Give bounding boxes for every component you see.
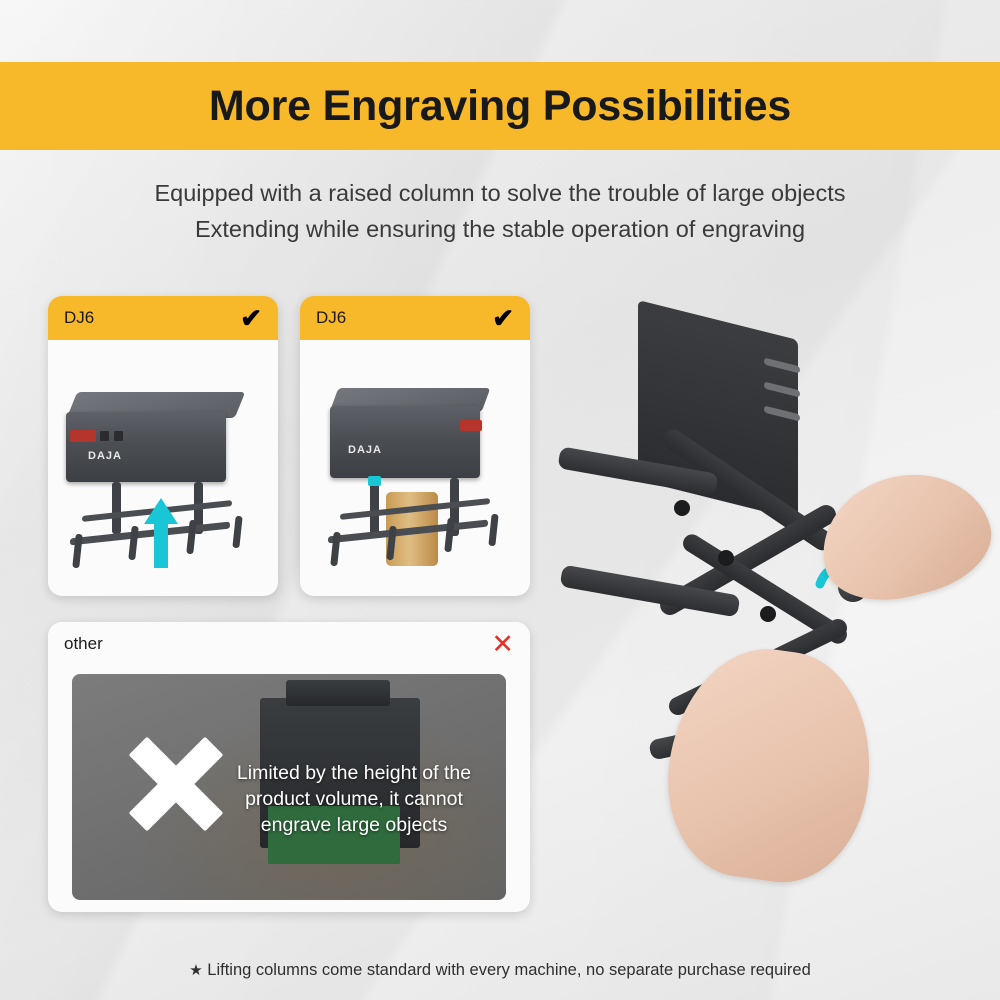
switch-icon-2 [114,431,123,441]
card-dj6-left-image: DAJA [48,340,278,596]
lift-column-left [370,478,379,536]
arm-hole-3 [760,606,776,622]
machine-body [330,406,480,478]
teal-marker [368,476,381,486]
footer-note: ★ Lifting columns come standard with eve… [0,961,1000,980]
page-title: More Engraving Possibilities [209,82,791,131]
power-indicator [460,420,482,431]
card-other: other ✕ Limited by the height of the pro… [48,622,530,912]
other-caption-line-2: product volume, it cannot [214,786,494,812]
card-dj6-left: DJ6 ✔ DAJA [48,296,278,596]
star-icon: ★ [189,962,202,979]
page-background: More Engraving Possibilities Equipped wi… [0,0,1000,1000]
hero-photo-stand-with-hands [520,250,1000,950]
arm-hole-2 [718,550,734,566]
card-other-header: other ✕ [48,622,530,666]
lift-column-left [112,482,121,534]
machine-body [66,412,226,482]
machine-illustration-left: DAJA [48,340,278,596]
subtitle-line-1: Equipped with a raised column to solve t… [0,175,1000,211]
other-caption-line-3: engrave large objects [214,812,494,838]
other-photo: Limited by the height of the product vol… [72,674,506,900]
card-dj6-left-label: DJ6 [64,308,94,328]
card-dj6-right-header: DJ6 ✔ [300,296,530,340]
brand-logo-right: DAJA [348,444,382,456]
cross-icon: ✕ [491,631,514,658]
switch-icon-1 [100,431,109,441]
card-other-image: Limited by the height of the product vol… [48,666,530,912]
card-dj6-right-label: DJ6 [316,308,346,328]
subtitle-line-2: Extending while ensuring the stable oper… [0,211,1000,247]
brand-logo-left: DAJA [88,450,122,462]
stand-foot-3 [186,520,197,555]
other-machine-lid [286,680,390,706]
other-caption-line-1: Limited by the height of the [214,760,494,786]
stand-foot-4 [488,514,498,547]
stand-foot-4 [232,516,242,549]
card-dj6-right-image: DAJA [300,340,530,596]
check-icon: ✔ [492,305,514,331]
other-caption: Limited by the height of the product vol… [214,760,494,838]
arm-hole-1 [674,500,690,516]
machine-illustration-right: DAJA [300,340,530,596]
card-other-label: other [64,634,103,654]
card-dj6-right: DJ6 ✔ DAJA [300,296,530,596]
headline-banner: More Engraving Possibilities [0,62,1000,150]
up-arrow-icon [138,498,184,572]
check-icon: ✔ [240,305,262,331]
footer-text: Lifting columns come standard with every… [207,961,811,979]
card-dj6-left-header: DJ6 ✔ [48,296,278,340]
subtitle-block: Equipped with a raised column to solve t… [0,175,1000,247]
hand-lower [655,637,885,893]
power-indicator [70,430,96,442]
